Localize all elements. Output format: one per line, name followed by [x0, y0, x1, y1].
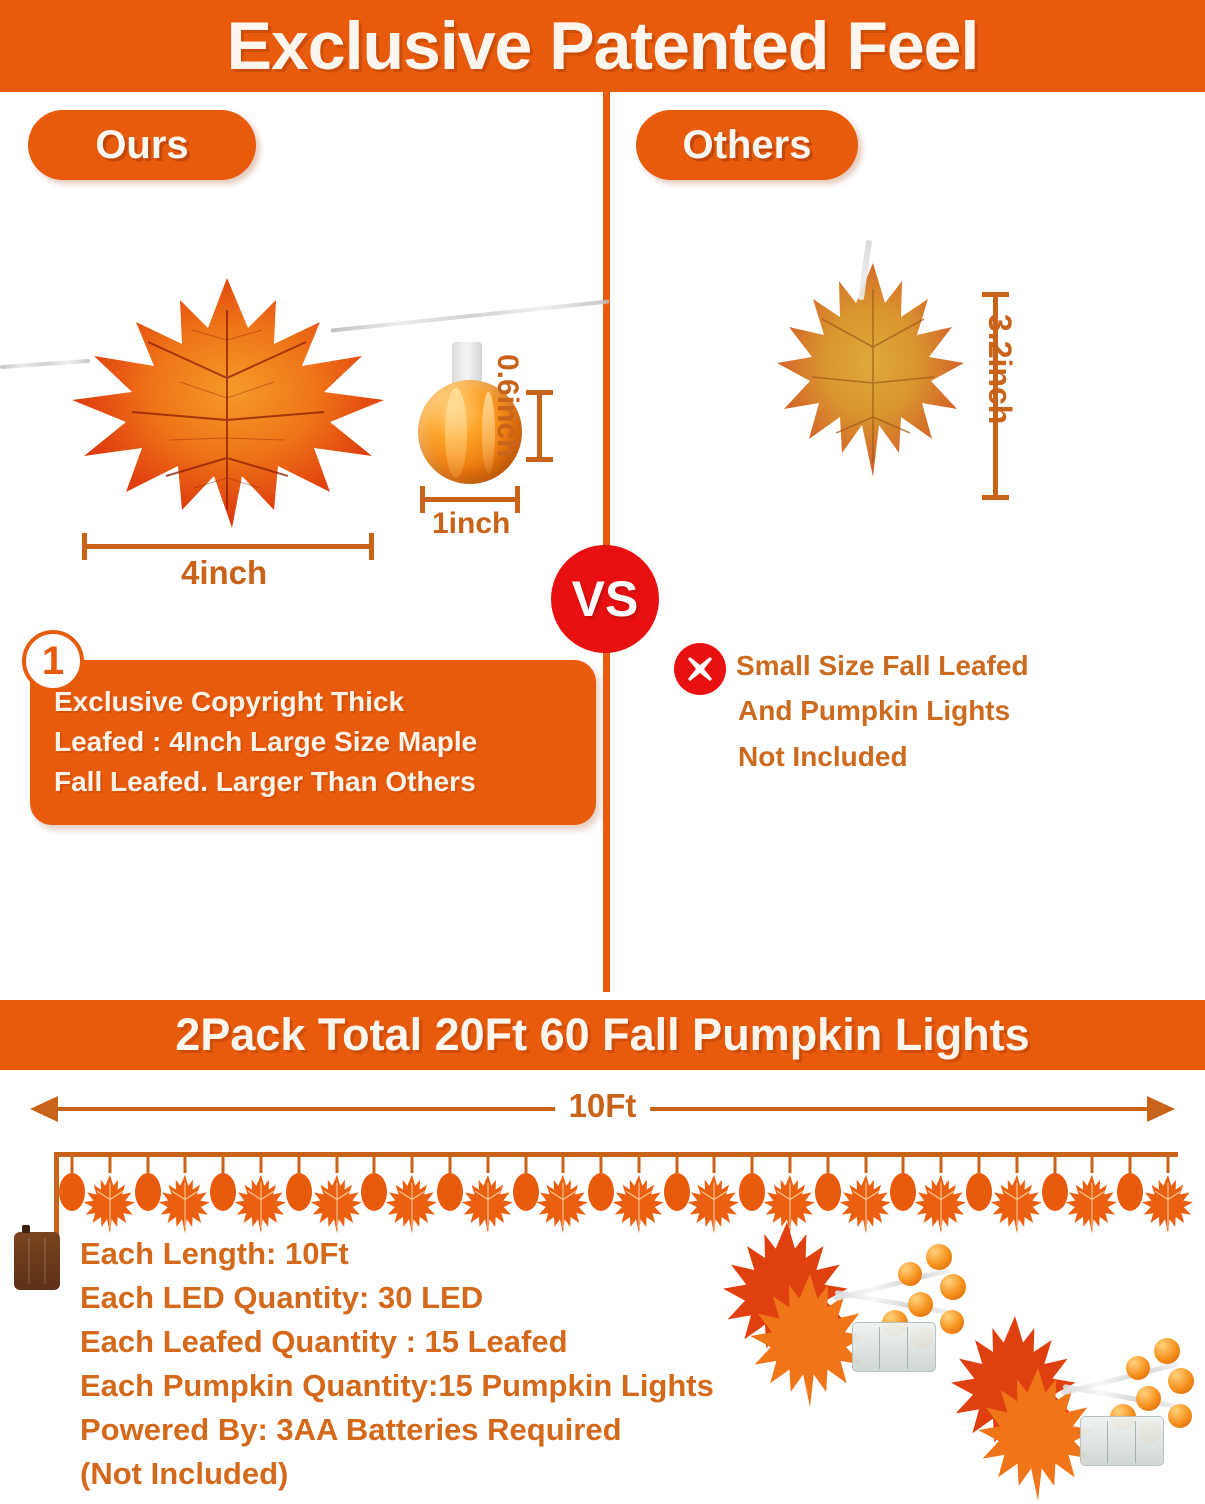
others-maple-leaf-photo: [778, 257, 968, 482]
pumpkin-height-label: 0.6inch: [490, 354, 524, 457]
spec-list: Each Length: 10Ft Each LED Quantity: 30 …: [80, 1232, 820, 1496]
callout-number-badge: 1: [22, 630, 84, 692]
ours-callout-line: Leafed : 4Inch Large Size Maple: [54, 722, 572, 762]
others-callout-line: Not Included: [738, 734, 1176, 779]
vs-badge: VS: [551, 545, 659, 653]
spec-item: Each Pumpkin Quantity:15 Pumpkin Lights: [80, 1364, 820, 1408]
spec-item: (Not Included): [80, 1452, 820, 1496]
others-leaf-height-label: 3.2inch: [981, 314, 1018, 424]
pumpkin-height-rule: [537, 390, 542, 462]
length-arrow: 10Ft: [30, 1092, 1175, 1126]
spec-item: Powered By: 3AA Batteries Required: [80, 1408, 820, 1452]
sub-banner: 2Pack Total 20Ft 60 Fall Pumpkin Lights: [0, 1000, 1205, 1070]
spec-item: Each LED Quantity: 30 LED: [80, 1276, 820, 1320]
vs-label: VS: [572, 570, 639, 628]
x-mark-icon: [674, 643, 726, 695]
header-banner: Exclusive Patented Feel: [0, 0, 1205, 92]
vertical-divider: [603, 92, 610, 992]
others-badge: Others: [636, 110, 858, 180]
others-badge-label: Others: [683, 123, 812, 168]
arrow-head-left-icon: [30, 1096, 58, 1122]
ours-callout: Exclusive Copyright Thick Leafed : 4Inch…: [30, 660, 596, 825]
page-title: Exclusive Patented Feel: [227, 7, 979, 85]
pumpkin-width-label: 1inch: [432, 507, 510, 541]
others-callout-line: Small Size Fall Leafed: [736, 643, 1176, 688]
ours-callout-line: Fall Leafed. Larger Than Others: [54, 762, 572, 802]
comparison-section: Ours Others 4inch: [0, 92, 1205, 992]
callout-number: 1: [42, 639, 64, 684]
others-callout: Small Size Fall Leafed And Pumpkin Light…: [736, 643, 1176, 779]
spec-item: Each Leafed Quantity : 15 Leafed: [80, 1320, 820, 1364]
battery-box-icon: [14, 1232, 60, 1290]
others-callout-line: And Pumpkin Lights: [738, 688, 1176, 733]
ours-callout-line: Exclusive Copyright Thick: [54, 682, 572, 722]
product-photo-bundle: [940, 1312, 1205, 1492]
leaf-width-label: 4inch: [181, 554, 267, 592]
ours-badge-label: Ours: [95, 123, 188, 168]
arrow-head-right-icon: [1147, 1096, 1175, 1122]
ours-maple-leaf-photo: [62, 270, 392, 530]
length-label: 10Ft: [555, 1087, 651, 1125]
leaf-width-rule: [82, 544, 374, 549]
spec-item: Each Length: 10Ft: [80, 1232, 820, 1276]
pumpkin-width-rule: [420, 497, 520, 502]
sub-banner-title: 2Pack Total 20Ft 60 Fall Pumpkin Lights: [175, 1009, 1029, 1061]
ours-badge: Ours: [28, 110, 256, 180]
